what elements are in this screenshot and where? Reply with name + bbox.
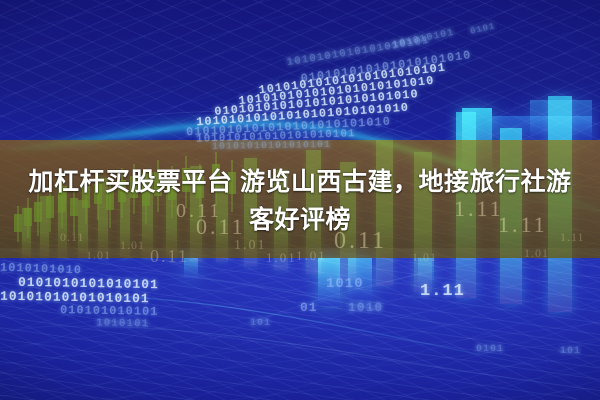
- floating-number: 1.01: [524, 246, 549, 261]
- headline: 加杠杆买股票平台 游览山西古建，地接旅行社游 客好评榜: [0, 163, 600, 239]
- floating-number: 1.01: [120, 238, 145, 253]
- headline-line-1: 加杠杆买股票平台 游览山西古建，地接旅行社游: [0, 163, 600, 201]
- floating-number: 1.01: [412, 250, 437, 265]
- floating-number: 1.01: [296, 248, 327, 264]
- banner-image: 1010101010101010101010101010101010101010…: [0, 0, 600, 400]
- floating-number: 1.01: [86, 248, 111, 263]
- floating-number: 1.01: [266, 250, 297, 266]
- headline-line-2: 客好评榜: [0, 201, 600, 239]
- floating-number: 0.11: [150, 246, 189, 267]
- floating-number: 1.01: [234, 238, 267, 254]
